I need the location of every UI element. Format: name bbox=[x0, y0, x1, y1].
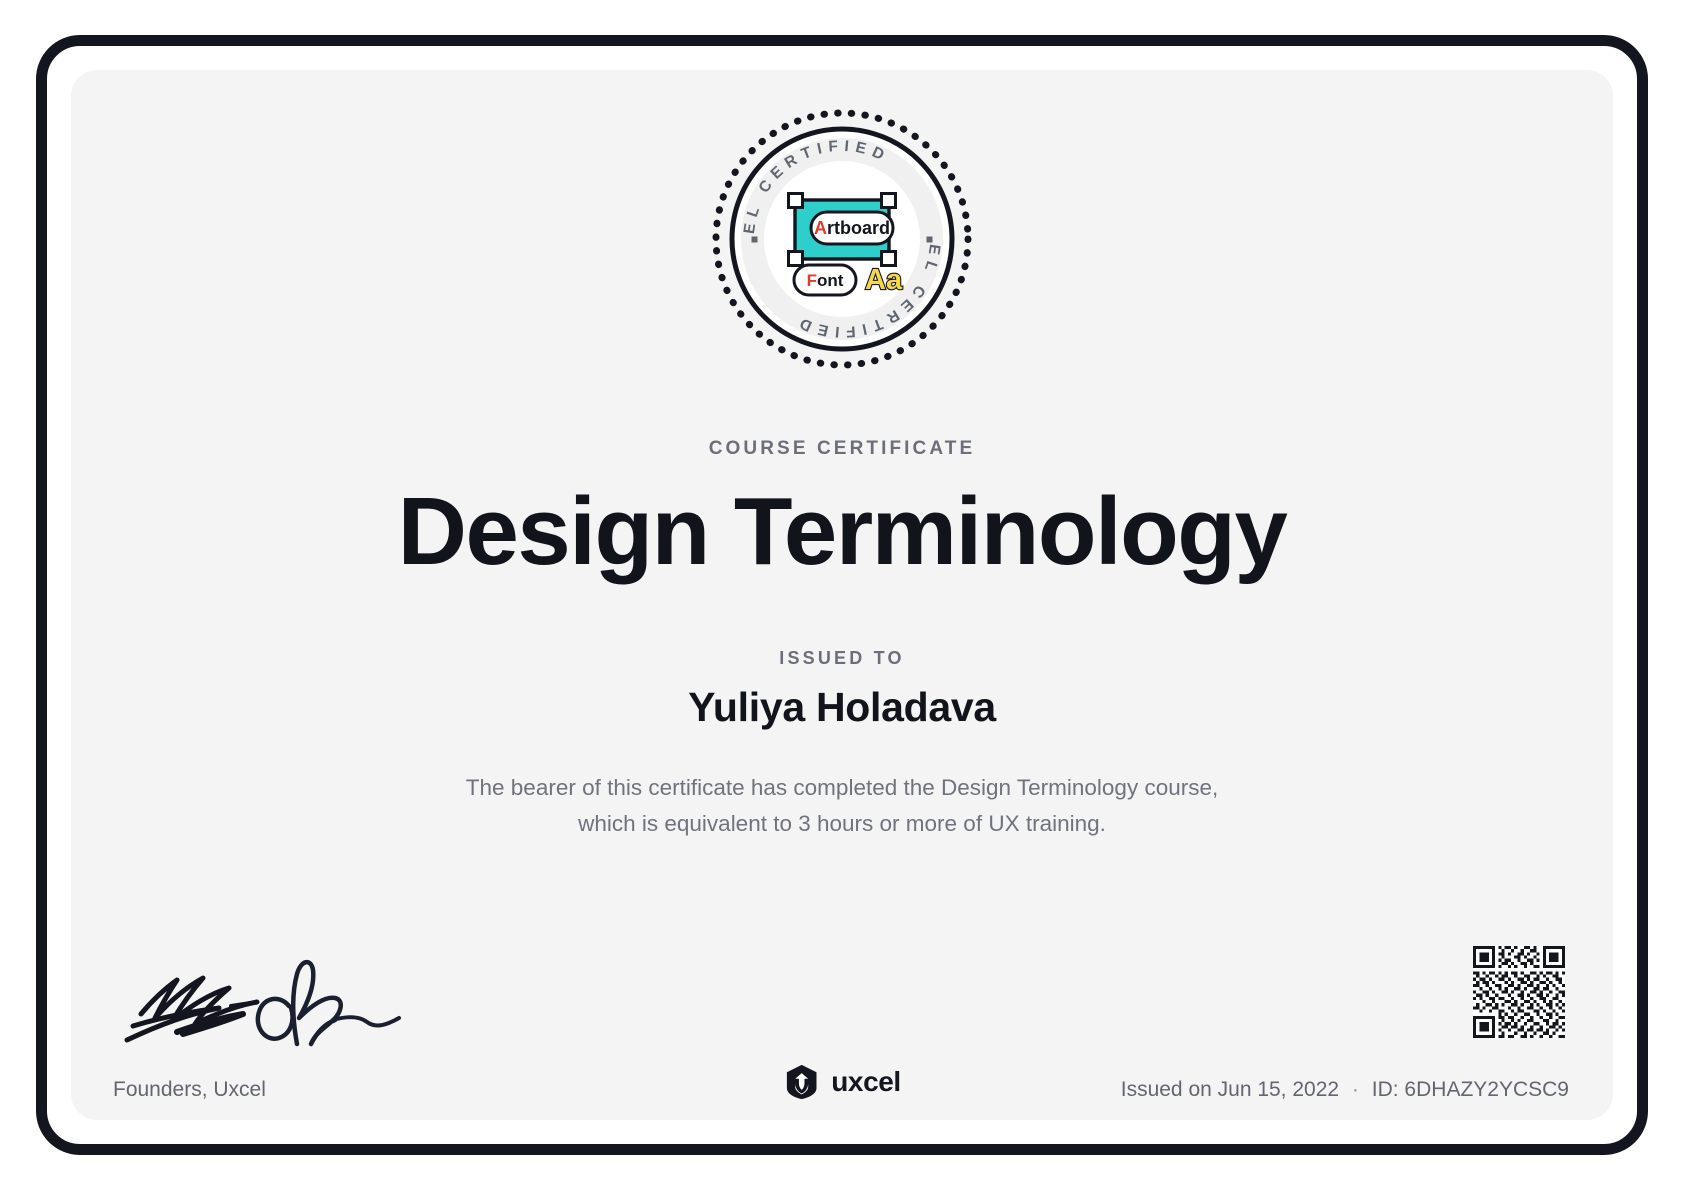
font-icon: Font Aa bbox=[794, 264, 903, 296]
signature-graphic bbox=[111, 952, 441, 1057]
eyebrow-label: COURSE CERTIFICATE bbox=[71, 438, 1613, 460]
certificate-footer: Founders, Uxcel uxcel bbox=[71, 900, 1613, 1120]
qr-code[interactable] bbox=[1473, 946, 1565, 1038]
description-line-1: The bearer of this certificate has compl… bbox=[352, 770, 1332, 806]
issue-date: Issued on Jun 15, 2022 bbox=[1121, 1078, 1339, 1101]
artboard-pill-label: Artboard bbox=[814, 218, 890, 238]
certificate-frame: UXCEL CERTIFIED UXCEL CERTIFIED bbox=[36, 35, 1648, 1155]
recipient-name: Yuliya Holadava bbox=[71, 684, 1613, 731]
uxcel-brand: uxcel bbox=[783, 1063, 901, 1100]
issue-info: Issued on Jun 15, 2022 · ID: 6DHAZY2YCSC… bbox=[1121, 1078, 1569, 1102]
signatures bbox=[111, 952, 471, 1062]
certificate-id: ID: 6DHAZY2YCSC9 bbox=[1372, 1078, 1569, 1101]
seal-separator-dot-right bbox=[927, 237, 933, 243]
font-sample-text: Aa bbox=[865, 264, 903, 296]
uxcel-logo-icon bbox=[783, 1063, 820, 1100]
seal-graphic: UXCEL CERTIFIED UXCEL CERTIFIED bbox=[711, 108, 973, 370]
uxcel-certified-seal: UXCEL CERTIFIED UXCEL CERTIFIED bbox=[711, 108, 973, 370]
issue-separator: · bbox=[1345, 1078, 1366, 1101]
artboard-icon: Artboard bbox=[789, 194, 896, 266]
description-line-2: which is equivalent to 3 hours or more o… bbox=[352, 806, 1332, 842]
font-pill-label: Font bbox=[807, 271, 844, 290]
seal-separator-dot-left bbox=[752, 237, 758, 243]
certificate-page: UXCEL CERTIFIED UXCEL CERTIFIED bbox=[0, 0, 1684, 1190]
certificate-description: The bearer of this certificate has compl… bbox=[352, 770, 1332, 842]
page-title: Design Terminology bbox=[71, 480, 1613, 584]
uxcel-brand-name: uxcel bbox=[831, 1066, 901, 1098]
issued-to-label: ISSUED TO bbox=[71, 648, 1613, 669]
signature-caption: Founders, Uxcel bbox=[113, 1078, 266, 1102]
certificate-card: UXCEL CERTIFIED UXCEL CERTIFIED bbox=[71, 70, 1613, 1120]
